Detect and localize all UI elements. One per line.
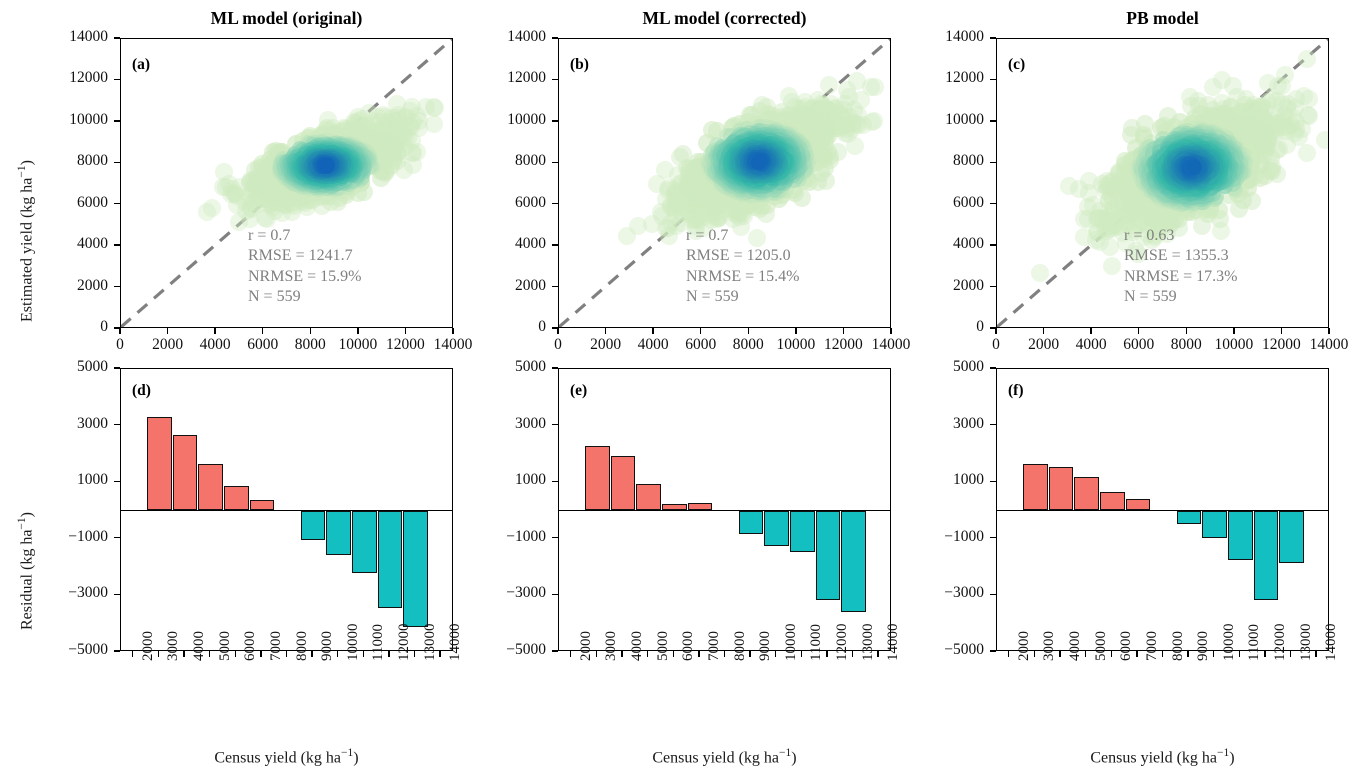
panel-tag-f: (f) bbox=[1008, 382, 1024, 400]
residual-bar bbox=[1228, 511, 1253, 561]
y-tick-mark bbox=[990, 537, 996, 538]
x-tick-mark bbox=[652, 328, 653, 334]
y-tick-mark bbox=[114, 481, 120, 482]
stat-nrmse: NRMSE = 15.9% bbox=[248, 267, 361, 287]
residual-bar bbox=[764, 511, 789, 546]
panel-title-1: ML model (original) bbox=[120, 8, 453, 29]
x-tick-label: 14000 bbox=[434, 336, 473, 354]
x-tick-mark bbox=[262, 328, 263, 334]
panel-tag-e: (e) bbox=[570, 382, 587, 400]
x-tick-mark bbox=[1090, 328, 1091, 334]
y-tick-mark bbox=[114, 37, 120, 38]
x-tick-mark bbox=[700, 328, 701, 334]
x-tick-label: 14000 bbox=[1323, 624, 1340, 662]
y-tick-mark bbox=[990, 594, 996, 595]
y-tick-mark bbox=[552, 594, 558, 595]
residual-plot-area bbox=[559, 369, 890, 650]
y-tick-label: 8000 bbox=[515, 152, 546, 170]
x-tick-label: 10000 bbox=[1221, 624, 1238, 662]
x-tick-mark bbox=[1233, 328, 1234, 334]
x-tick-label: 8000 bbox=[295, 336, 326, 354]
y-tick-mark bbox=[114, 286, 120, 287]
x-tick-label: 9000 bbox=[1195, 631, 1212, 661]
y-tick-mark bbox=[114, 203, 120, 204]
panel-title-3: PB model bbox=[996, 8, 1329, 29]
panel-tag-c: (c) bbox=[1008, 56, 1025, 74]
y-tick-label: 3000 bbox=[515, 415, 546, 433]
x-tick-label: 6000 bbox=[680, 631, 697, 661]
panel-tag-a: (a) bbox=[132, 56, 150, 74]
residual-bar bbox=[403, 511, 428, 628]
y-tick-mark bbox=[990, 424, 996, 425]
residual-bar bbox=[224, 486, 249, 511]
x-tick-label: 10000 bbox=[1214, 336, 1253, 354]
x-tick-label: 6000 bbox=[1123, 336, 1154, 354]
x-tick-mark bbox=[570, 651, 571, 657]
residual-bar bbox=[1279, 511, 1304, 563]
stat-r: r = 0.7 bbox=[248, 226, 361, 246]
y-tick-mark bbox=[552, 37, 558, 38]
x-tick-label: 10000 bbox=[338, 336, 377, 354]
x-tick-mark bbox=[1239, 651, 1240, 657]
residual-bar bbox=[1254, 511, 1279, 600]
x-tick-mark bbox=[775, 651, 776, 657]
y-tick-mark bbox=[114, 424, 120, 425]
y-tick-mark bbox=[114, 120, 120, 121]
y-tick-label: −3000 bbox=[506, 584, 546, 602]
y-tick-mark bbox=[990, 367, 996, 368]
x-tick-label: 2000 bbox=[590, 336, 621, 354]
y-tick-mark bbox=[990, 203, 996, 204]
statistics-annotation-c: r = 0.63RMSE = 1355.3NRMSE = 17.3%N = 55… bbox=[1124, 226, 1237, 308]
y-tick-label: −3000 bbox=[944, 584, 984, 602]
x-tick-label: 14000 bbox=[447, 624, 464, 662]
x-tick-mark bbox=[1136, 651, 1137, 657]
stat-r: r = 0.7 bbox=[686, 226, 799, 246]
x-tick-mark bbox=[363, 651, 364, 657]
stat-n: N = 559 bbox=[686, 287, 799, 307]
x-tick-mark bbox=[1315, 651, 1316, 657]
y-tick-label: 1000 bbox=[515, 471, 546, 489]
x-tick-label: 5000 bbox=[1093, 631, 1110, 661]
y-tick-mark bbox=[990, 650, 996, 651]
residual-bar bbox=[739, 511, 764, 535]
residual-bar bbox=[1023, 464, 1048, 510]
residual-bar bbox=[301, 511, 326, 540]
y-tick-label: 2000 bbox=[515, 277, 546, 295]
y-tick-mark bbox=[990, 286, 996, 287]
x-tick-mark bbox=[1213, 651, 1214, 657]
x-tick-label: 2000 bbox=[140, 631, 157, 661]
y-tick-mark bbox=[552, 537, 558, 538]
x-tick-mark bbox=[698, 651, 699, 657]
x-tick-mark bbox=[286, 651, 287, 657]
x-tick-mark bbox=[209, 651, 210, 657]
x-tick-mark bbox=[647, 651, 648, 657]
x-tick-mark bbox=[183, 651, 184, 657]
x-tick-mark bbox=[1138, 328, 1139, 334]
x-tick-mark bbox=[843, 328, 844, 334]
x-tick-label: 13000 bbox=[860, 624, 877, 662]
y-tick-mark bbox=[114, 79, 120, 80]
residual-bar bbox=[326, 511, 351, 555]
x-tick-mark bbox=[388, 651, 389, 657]
x-tick-label: 8000 bbox=[1170, 631, 1187, 661]
y-tick-mark bbox=[114, 162, 120, 163]
y-tick-label: 4000 bbox=[77, 235, 108, 253]
y-tick-label: 12000 bbox=[945, 69, 984, 87]
x-tick-mark bbox=[795, 328, 796, 334]
x-tick-mark bbox=[877, 651, 878, 657]
y-tick-mark bbox=[990, 162, 996, 163]
x-tick-label: 2000 bbox=[152, 336, 183, 354]
x-tick-mark bbox=[621, 651, 622, 657]
y-tick-label: 1000 bbox=[77, 471, 108, 489]
x-tick-label: 10000 bbox=[345, 624, 362, 662]
residual-bar bbox=[790, 511, 815, 553]
y-tick-mark bbox=[990, 244, 996, 245]
x-axis-label-census-yield: Census yield (kg ha−1) bbox=[120, 747, 453, 767]
residual-bar bbox=[1100, 492, 1125, 510]
x-tick-mark bbox=[826, 651, 827, 657]
residual-plot-frame-e bbox=[558, 368, 891, 651]
x-tick-label: 8000 bbox=[733, 336, 764, 354]
x-tick-mark bbox=[1085, 651, 1086, 657]
y-tick-label: 5000 bbox=[953, 358, 984, 376]
x-tick-mark bbox=[310, 328, 311, 334]
x-tick-label: 14000 bbox=[872, 336, 911, 354]
x-tick-label: 6000 bbox=[1118, 631, 1135, 661]
stat-r: r = 0.63 bbox=[1124, 226, 1237, 246]
x-tick-mark bbox=[748, 328, 749, 334]
x-tick-label: 5000 bbox=[655, 631, 672, 661]
y-tick-label: 10000 bbox=[945, 111, 984, 129]
x-tick-label: 5000 bbox=[217, 631, 234, 661]
x-tick-label: 12000 bbox=[824, 336, 863, 354]
x-tick-mark bbox=[605, 328, 606, 334]
y-tick-label: −5000 bbox=[944, 641, 984, 659]
residual-bar bbox=[611, 456, 636, 510]
x-tick-mark bbox=[673, 651, 674, 657]
x-tick-mark bbox=[235, 651, 236, 657]
x-tick-label: 0 bbox=[554, 336, 562, 354]
y-tick-label: −3000 bbox=[68, 584, 108, 602]
x-tick-mark bbox=[1328, 328, 1329, 334]
residual-bar bbox=[841, 511, 866, 613]
x-tick-label: 4000 bbox=[1076, 336, 1107, 354]
x-tick-label: 8000 bbox=[1171, 336, 1202, 354]
x-tick-label: 3000 bbox=[603, 631, 620, 661]
x-tick-mark bbox=[1264, 651, 1265, 657]
stat-n: N = 559 bbox=[248, 287, 361, 307]
y-tick-label: 4000 bbox=[515, 235, 546, 253]
y-tick-label: −1000 bbox=[506, 528, 546, 546]
figure-canvas: ML model (original)(a)r = 0.7RMSE = 1241… bbox=[0, 0, 1366, 758]
residual-bar bbox=[585, 446, 610, 511]
x-tick-mark bbox=[596, 651, 597, 657]
x-tick-mark bbox=[1187, 651, 1188, 657]
x-tick-label: 9000 bbox=[757, 631, 774, 661]
x-tick-mark bbox=[439, 651, 440, 657]
x-tick-mark bbox=[452, 328, 453, 334]
x-tick-mark bbox=[405, 328, 406, 334]
y-tick-mark bbox=[990, 37, 996, 38]
y-tick-label: 10000 bbox=[507, 111, 546, 129]
y-axis-label-estimated-yield: Estimated yield (kg ha−1) bbox=[16, 160, 36, 322]
x-tick-mark bbox=[724, 651, 725, 657]
statistics-annotation-a: r = 0.7RMSE = 1241.7NRMSE = 15.9%N = 559 bbox=[248, 226, 361, 308]
y-tick-label: 14000 bbox=[507, 28, 546, 46]
residual-bar bbox=[1177, 511, 1202, 525]
y-tick-label: −5000 bbox=[506, 641, 546, 659]
panel-tag-b: (b) bbox=[570, 56, 589, 74]
x-tick-mark bbox=[1290, 651, 1291, 657]
x-tick-label: 10000 bbox=[776, 336, 815, 354]
x-tick-label: 2000 bbox=[578, 631, 595, 661]
x-tick-label: 8000 bbox=[732, 631, 749, 661]
y-tick-mark bbox=[552, 120, 558, 121]
x-tick-mark bbox=[357, 328, 358, 334]
panel-title-2: ML model (corrected) bbox=[558, 8, 891, 29]
residual-plot-area bbox=[997, 369, 1328, 650]
y-tick-mark bbox=[552, 650, 558, 651]
x-tick-label: 0 bbox=[992, 336, 1000, 354]
y-tick-mark bbox=[552, 481, 558, 482]
x-tick-label: 7000 bbox=[268, 631, 285, 661]
stat-rmse: RMSE = 1205.0 bbox=[686, 246, 799, 266]
x-tick-mark bbox=[158, 651, 159, 657]
x-tick-mark bbox=[1281, 328, 1282, 334]
y-tick-label: 14000 bbox=[945, 28, 984, 46]
stat-n: N = 559 bbox=[1124, 287, 1237, 307]
y-tick-mark bbox=[114, 367, 120, 368]
x-tick-label: 7000 bbox=[1144, 631, 1161, 661]
x-tick-label: 2000 bbox=[1016, 631, 1033, 661]
x-tick-mark bbox=[119, 328, 120, 334]
x-tick-label: 11000 bbox=[370, 624, 387, 661]
stat-rmse: RMSE = 1241.7 bbox=[248, 246, 361, 266]
stat-nrmse: NRMSE = 17.3% bbox=[1124, 267, 1237, 287]
y-tick-label: 2000 bbox=[953, 277, 984, 295]
x-tick-mark bbox=[995, 328, 996, 334]
x-tick-label: 4000 bbox=[200, 336, 231, 354]
x-tick-label: 13000 bbox=[1298, 624, 1315, 662]
x-axis-label-exponent: −1 bbox=[779, 747, 791, 759]
residual-plot-frame-d bbox=[120, 368, 453, 651]
x-tick-label: 11000 bbox=[1246, 624, 1263, 661]
y-tick-label: −1000 bbox=[944, 528, 984, 546]
y-tick-mark bbox=[990, 481, 996, 482]
y-tick-label: 1000 bbox=[953, 471, 984, 489]
x-tick-label: 12000 bbox=[1262, 336, 1301, 354]
x-tick-label: 6000 bbox=[242, 631, 259, 661]
x-tick-label: 11000 bbox=[808, 624, 825, 661]
x-tick-mark bbox=[311, 651, 312, 657]
x-axis-label-census-yield: Census yield (kg ha−1) bbox=[996, 747, 1329, 767]
x-tick-mark bbox=[260, 651, 261, 657]
y-tick-label: 6000 bbox=[77, 194, 108, 212]
statistics-annotation-b: r = 0.7RMSE = 1205.0NRMSE = 15.4%N = 559 bbox=[686, 226, 799, 308]
x-tick-mark bbox=[852, 651, 853, 657]
x-tick-mark bbox=[1111, 651, 1112, 657]
residual-bar bbox=[636, 484, 661, 510]
x-tick-mark bbox=[1162, 651, 1163, 657]
x-tick-mark bbox=[337, 651, 338, 657]
y-tick-mark bbox=[114, 244, 120, 245]
y-tick-label: 3000 bbox=[953, 415, 984, 433]
x-tick-label: 0 bbox=[116, 336, 124, 354]
x-tick-mark bbox=[1043, 328, 1044, 334]
y-axis-label-residual: Residual (kg ha−1) bbox=[16, 512, 36, 630]
x-tick-label: 2000 bbox=[1028, 336, 1059, 354]
y-tick-label: 2000 bbox=[77, 277, 108, 295]
residual-bar bbox=[816, 511, 841, 600]
x-tick-label: 12000 bbox=[386, 336, 425, 354]
y-tick-mark bbox=[552, 79, 558, 80]
y-tick-label: 6000 bbox=[515, 194, 546, 212]
y-tick-mark bbox=[552, 286, 558, 287]
x-tick-label: 7000 bbox=[706, 631, 723, 661]
y-tick-label: 14000 bbox=[69, 28, 108, 46]
y-tick-label: 10000 bbox=[69, 111, 108, 129]
residual-bar bbox=[378, 511, 403, 608]
zero-reference-line bbox=[121, 510, 452, 512]
y-tick-label: 0 bbox=[100, 318, 108, 336]
x-tick-label: 6000 bbox=[685, 336, 716, 354]
residual-plot-area bbox=[121, 369, 452, 650]
x-tick-mark bbox=[132, 651, 133, 657]
y-tick-label: 0 bbox=[538, 318, 546, 336]
y-tick-mark bbox=[990, 120, 996, 121]
y-tick-label: 12000 bbox=[507, 69, 546, 87]
x-tick-mark bbox=[890, 328, 891, 334]
y-tick-mark bbox=[990, 79, 996, 80]
x-tick-label: 12000 bbox=[1272, 624, 1289, 662]
x-tick-mark bbox=[1186, 328, 1187, 334]
y-tick-mark bbox=[552, 203, 558, 204]
x-tick-label: 14000 bbox=[1310, 336, 1349, 354]
y-tick-label: −5000 bbox=[68, 641, 108, 659]
y-tick-mark bbox=[552, 367, 558, 368]
x-tick-label: 3000 bbox=[1041, 631, 1058, 661]
x-tick-mark bbox=[1008, 651, 1009, 657]
residual-bar bbox=[1202, 511, 1227, 538]
x-axis-label-census-yield: Census yield (kg ha−1) bbox=[558, 747, 891, 767]
x-tick-mark bbox=[214, 328, 215, 334]
residual-bar bbox=[147, 417, 172, 511]
y-tick-label: −1000 bbox=[68, 528, 108, 546]
residual-bar bbox=[1049, 467, 1074, 510]
x-tick-label: 4000 bbox=[629, 631, 646, 661]
y-tick-label: 3000 bbox=[77, 415, 108, 433]
x-tick-label: 6000 bbox=[247, 336, 278, 354]
x-tick-mark bbox=[749, 651, 750, 657]
zero-reference-line bbox=[559, 510, 890, 512]
y-tick-mark bbox=[552, 162, 558, 163]
x-tick-label: 4000 bbox=[1067, 631, 1084, 661]
x-tick-mark bbox=[1059, 651, 1060, 657]
x-tick-label: 8000 bbox=[294, 631, 311, 661]
y-tick-mark bbox=[552, 244, 558, 245]
x-tick-mark bbox=[1034, 651, 1035, 657]
stat-rmse: RMSE = 1355.3 bbox=[1124, 246, 1237, 266]
y-tick-label: 12000 bbox=[69, 69, 108, 87]
x-tick-mark bbox=[557, 328, 558, 334]
y-tick-mark bbox=[114, 594, 120, 595]
y-tick-label: 6000 bbox=[953, 194, 984, 212]
x-tick-label: 4000 bbox=[638, 336, 669, 354]
x-tick-label: 4000 bbox=[191, 631, 208, 661]
y-tick-label: 5000 bbox=[77, 358, 108, 376]
y-tick-label: 8000 bbox=[953, 152, 984, 170]
y-tick-mark bbox=[114, 650, 120, 651]
residual-plot-frame-f bbox=[996, 368, 1329, 651]
x-tick-mark bbox=[801, 651, 802, 657]
x-axis-label-exponent: −1 bbox=[341, 747, 353, 759]
x-tick-label: 14000 bbox=[885, 624, 902, 662]
stat-nrmse: NRMSE = 15.4% bbox=[686, 267, 799, 287]
x-tick-label: 3000 bbox=[165, 631, 182, 661]
residual-bar bbox=[352, 511, 377, 573]
residual-bar bbox=[198, 464, 223, 510]
y-tick-label: 4000 bbox=[953, 235, 984, 253]
x-tick-label: 13000 bbox=[422, 624, 439, 662]
residual-bar bbox=[173, 435, 198, 511]
x-tick-label: 9000 bbox=[319, 631, 336, 661]
x-tick-label: 10000 bbox=[783, 624, 800, 662]
x-tick-mark bbox=[167, 328, 168, 334]
zero-reference-line bbox=[997, 510, 1328, 512]
x-tick-label: 12000 bbox=[834, 624, 851, 662]
x-axis-label-exponent: −1 bbox=[1217, 747, 1229, 759]
residual-bar bbox=[1074, 477, 1099, 511]
x-tick-label: 12000 bbox=[396, 624, 413, 662]
y-tick-mark bbox=[114, 537, 120, 538]
y-tick-label: 8000 bbox=[77, 152, 108, 170]
y-tick-mark bbox=[552, 424, 558, 425]
panel-tag-d: (d) bbox=[132, 382, 151, 400]
y-tick-label: 0 bbox=[976, 318, 984, 336]
y-tick-label: 5000 bbox=[515, 358, 546, 376]
x-tick-mark bbox=[414, 651, 415, 657]
